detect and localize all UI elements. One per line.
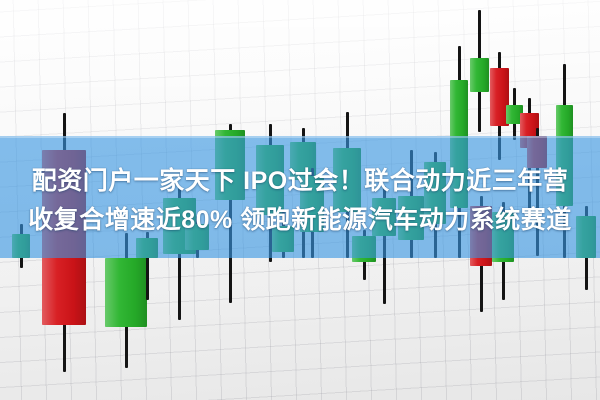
candlestick-body-up	[470, 58, 489, 92]
blue-band-top-edge	[0, 136, 600, 138]
candlestick	[470, 10, 489, 132]
banner-image: 配资门户一家天下 IPO过会！联合动力近三年营 收复合增速近80% 领跑新能源汽…	[0, 0, 600, 400]
headline-line-1: 配资门户一家天下 IPO过会！联合动力近三年营	[0, 164, 600, 198]
headline-line-2: 收复合增速近80% 领跑新能源汽车动力系统赛道	[0, 203, 600, 237]
